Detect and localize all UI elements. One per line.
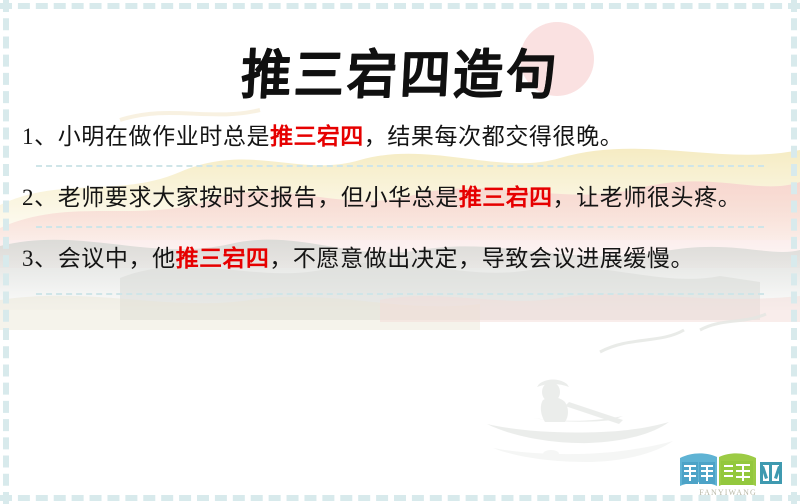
boat-watermark-icon [473, 372, 688, 468]
list-item: 3、会议中，他推三宕四，不愿意做出决定，导致会议进展缓慢。 [0, 238, 800, 279]
sentence-number-1: 1、 [22, 124, 58, 149]
page-border-top [0, 3, 800, 9]
idiom-highlight-2: 推三宕四 [459, 185, 553, 210]
sentence-divider-1 [36, 165, 764, 167]
logo-subtitle: FANYIWANG [672, 488, 784, 497]
sentence-number-2: 2、 [22, 185, 58, 210]
idiom-highlight-1: 推三宕四 [270, 124, 364, 149]
sentence-list: 1、小明在做作业时总是推三宕四，结果每次都交得很晚。 2、老师要求大家按时交报告… [0, 116, 800, 305]
sentence-divider-2 [36, 226, 764, 228]
list-item: 1、小明在做作业时总是推三宕四，结果每次都交得很晚。 [0, 116, 800, 157]
page-title: 推三宕四造句 [239, 46, 560, 104]
sentence-before-3: 会议中，他 [58, 246, 176, 271]
sentence-text-1: 1、小明在做作业时总是推三宕四，结果每次都交得很晚。 [22, 116, 774, 157]
sentence-after-2: ，让老师很头疼。 [553, 185, 742, 210]
sentence-after-1: ，结果每次都交得很晚。 [364, 124, 624, 149]
list-item: 2、老师要求大家按时交报告，但小华总是推三宕四，让老师很头疼。 [0, 177, 800, 218]
sentence-divider-3 [36, 293, 764, 295]
sentence-before-2: 老师要求大家按时交报告，但小华总是 [58, 185, 459, 210]
sentence-text-2: 2、老师要求大家按时交报告，但小华总是推三宕四，让老师很头疼。 [22, 177, 774, 218]
fanyiwang-logo-icon [672, 448, 784, 490]
sentence-text-3: 3、会议中，他推三宕四，不愿意做出决定，导致会议进展缓慢。 [22, 238, 774, 279]
page-root: 推三宕四造句 1、小明在做作业时总是推三宕四，结果每次都交得很晚。 2、老师要求… [0, 0, 800, 504]
sentence-number-3: 3、 [22, 246, 58, 271]
idiom-highlight-3: 推三宕四 [176, 246, 270, 271]
site-logo: FANYIWANG [672, 448, 784, 502]
sentence-before-1: 小明在做作业时总是 [58, 124, 270, 149]
sentence-after-3: ，不愿意做出决定，导致会议进展缓慢。 [269, 246, 694, 271]
